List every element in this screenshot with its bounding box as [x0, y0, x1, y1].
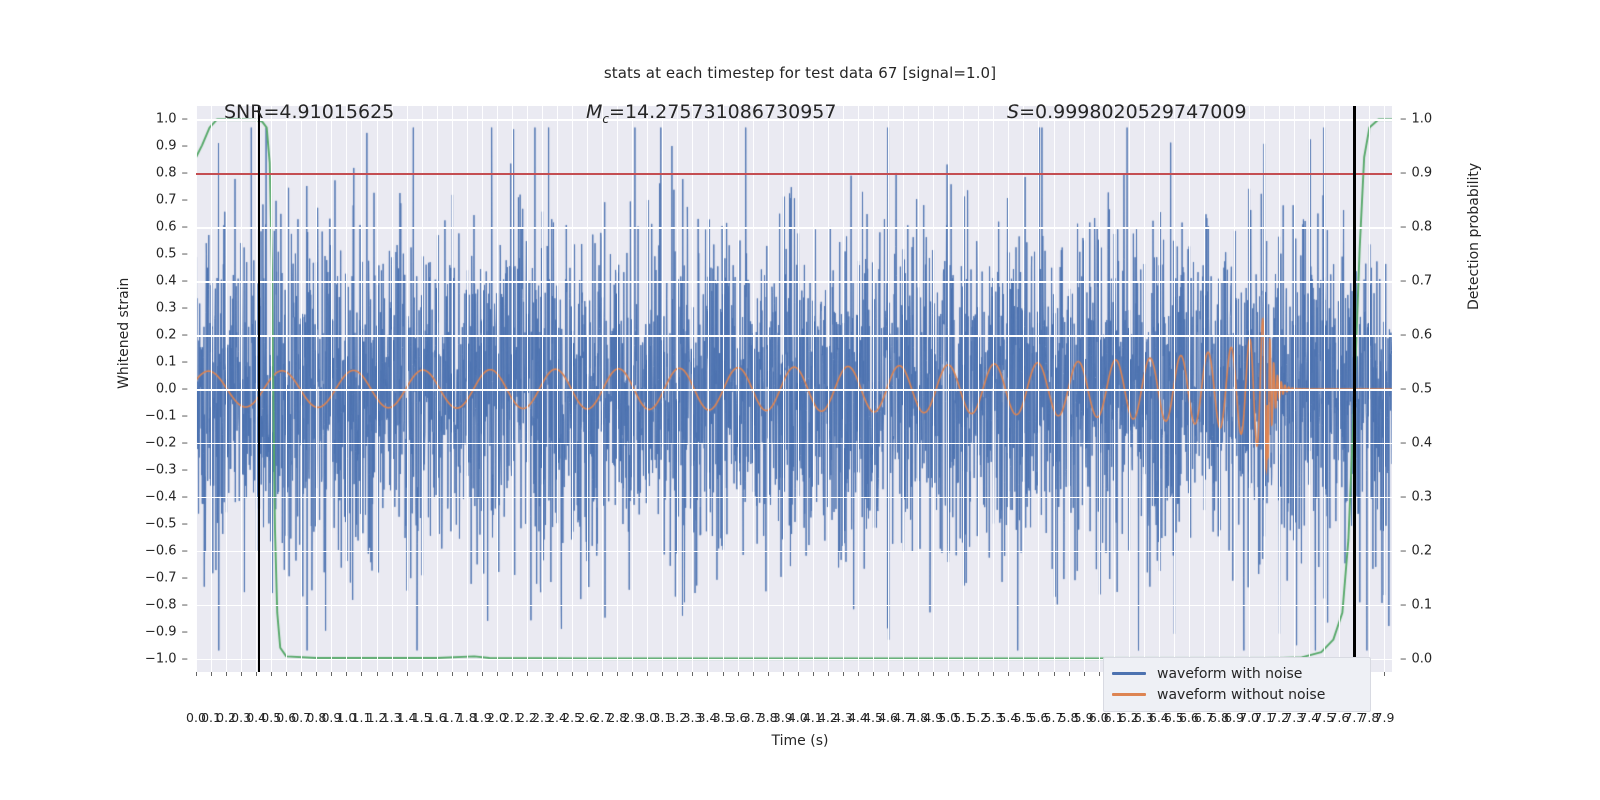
- gridline-horizontal: [196, 281, 1392, 283]
- x-axis-tick-mark: [497, 672, 498, 676]
- x-axis-tick-mark: [572, 672, 573, 676]
- x-axis-tick-mark: [813, 672, 814, 676]
- x-axis-tick-mark: [707, 672, 708, 676]
- x-axis-tick-mark: [256, 672, 257, 676]
- y-axis-right-tick: –0.4: [1400, 435, 1432, 450]
- y-right-tick-label: 0.3: [1412, 489, 1433, 504]
- x-axis-tick-mark: [407, 672, 408, 676]
- x-axis-tick-mark: [918, 672, 919, 676]
- legend-swatch-with-noise: [1112, 672, 1146, 675]
- plot-area[interactable]: [196, 106, 1392, 672]
- y-left-tick-label: 0.7: [156, 193, 177, 208]
- x-axis-tick-mark: [392, 672, 393, 676]
- y-axis-left-tick: 0.2–: [142, 328, 188, 343]
- x-axis-label: Time (s): [0, 733, 1600, 749]
- tick-dash-icon: –: [182, 382, 189, 397]
- y-right-tick-label: 0.7: [1412, 274, 1433, 289]
- y-axis-left-tick: −0.5–: [142, 516, 188, 531]
- x-axis-tick-mark: [331, 672, 332, 676]
- annotation-mc-label: M: [586, 101, 602, 123]
- y-right-tick-label: 1.0: [1412, 112, 1433, 127]
- y-left-tick-label: −0.4: [145, 489, 177, 504]
- tick-dash-icon: –: [1400, 274, 1407, 289]
- tick-dash-icon: –: [182, 328, 189, 343]
- y-axis-left-tick: −0.7–: [142, 570, 188, 585]
- x-axis-tick-mark: [196, 672, 197, 676]
- x-axis-tick-mark: [677, 672, 678, 676]
- y-right-tick-label: 0.4: [1412, 435, 1433, 450]
- gridline-horizontal: [196, 389, 1392, 391]
- x-axis-tick-mark: [482, 672, 483, 676]
- y-axis-left-tick: 0.6–: [142, 220, 188, 235]
- tick-dash-icon: –: [182, 408, 189, 423]
- x-axis-tick-mark: [1069, 672, 1070, 676]
- y-axis-left-tick: −1.0–: [142, 651, 188, 666]
- x-axis-tick-mark: [1384, 672, 1385, 676]
- tick-dash-icon: –: [182, 193, 189, 208]
- gridline-horizontal: [196, 551, 1392, 553]
- x-axis-tick-mark: [978, 672, 979, 676]
- tick-dash-icon: –: [1400, 489, 1407, 504]
- x-axis-tick-mark: [933, 672, 934, 676]
- y-left-tick-label: −0.9: [145, 624, 177, 639]
- y-axis-left-tick: −0.3–: [142, 462, 188, 477]
- x-axis-tick-mark: [1099, 672, 1100, 676]
- tick-dash-icon: –: [182, 355, 189, 370]
- tick-dash-icon: –: [182, 112, 189, 127]
- x-axis-tick-mark: [557, 672, 558, 676]
- annotation-snr-value: 4.91015625: [279, 101, 394, 123]
- y-axis-right-tick: –0.2: [1400, 543, 1432, 558]
- y-axis-left-tick: −0.1–: [142, 408, 188, 423]
- x-axis-tick-mark: [1008, 672, 1009, 676]
- x-axis-tick-mark: [647, 672, 648, 676]
- legend-item-waveform-without-noise[interactable]: waveform without noise: [1112, 684, 1362, 705]
- x-axis-tick-mark: [542, 672, 543, 676]
- annotation-s-eq: =: [1019, 101, 1035, 123]
- annotation-score: S=0.9998020529747009: [1007, 101, 1247, 123]
- y-left-tick-label: 0.0: [156, 382, 177, 397]
- y-right-tick-label: 0.0: [1412, 651, 1433, 666]
- event-marker-line: [1353, 106, 1355, 672]
- figure-canvas: stats at each timestep for test data 67 …: [0, 0, 1600, 800]
- x-axis-tick-mark: [527, 672, 528, 676]
- tick-dash-icon: –: [182, 516, 189, 531]
- legend-label-with-noise: waveform with noise: [1157, 666, 1302, 682]
- annotation-snr-label: SNR=: [224, 101, 279, 123]
- tick-dash-icon: –: [182, 570, 189, 585]
- y-left-tick-label: 0.2: [156, 328, 177, 343]
- y-axis-left-tick: −0.6–: [142, 543, 188, 558]
- legend-swatch-without-noise: [1112, 693, 1146, 696]
- x-axis-tick-mark: [587, 672, 588, 676]
- tick-dash-icon: –: [182, 651, 189, 666]
- y-axis-left-tick: 0.4–: [142, 274, 188, 289]
- y-axis-left-tick: 0.8–: [142, 166, 188, 181]
- tick-dash-icon: –: [182, 247, 189, 262]
- y-axis-right-tick: –0.8: [1400, 220, 1432, 235]
- y-axis-right-tick: –0.7: [1400, 274, 1432, 289]
- x-axis-tick-mark: [361, 672, 362, 676]
- y-axis-left-tick: −0.9–: [142, 624, 188, 639]
- y-left-tick-label: 0.9: [156, 139, 177, 154]
- y-left-tick-label: 0.1: [156, 355, 177, 370]
- x-axis-tick-mark: [723, 672, 724, 676]
- x-axis-tick-mark: [963, 672, 964, 676]
- annotation-chirp-mass: Mc=14.275731086730957: [586, 101, 836, 126]
- y-axis-right-tick: –0.6: [1400, 328, 1432, 343]
- x-axis-tick-mark: [467, 672, 468, 676]
- y-left-tick-label: 0.4: [156, 274, 177, 289]
- y-axis-left-tick: 1.0–: [142, 112, 188, 127]
- y-axis-left-tick: −0.4–: [142, 489, 188, 504]
- x-axis-tick-mark: [241, 672, 242, 676]
- x-axis-tick-mark: [1054, 672, 1055, 676]
- y-axis-right-label: Detection probability: [1466, 163, 1482, 310]
- legend-label-without-noise: waveform without noise: [1157, 687, 1325, 703]
- y-axis-right-tick: –0.1: [1400, 597, 1432, 612]
- y-axis-right-tick: –0.9: [1400, 166, 1432, 181]
- y-left-tick-label: 0.5: [156, 247, 177, 262]
- y-left-tick-label: −0.1: [145, 408, 177, 423]
- x-axis-tick-mark: [873, 672, 874, 676]
- tick-dash-icon: –: [182, 166, 189, 181]
- x-axis-tick-mark: [377, 672, 378, 676]
- y-axis-left-tick: 0.5–: [142, 247, 188, 262]
- x-axis-tick-mark: [452, 672, 453, 676]
- x-axis-tick-mark: [753, 672, 754, 676]
- x-axis-tick-label: 7.9: [1375, 710, 1395, 725]
- x-axis-tick-mark: [211, 672, 212, 676]
- tick-dash-icon: –: [182, 220, 189, 235]
- y-left-tick-label: −0.2: [145, 435, 177, 450]
- x-axis-tick-mark: [858, 672, 859, 676]
- y-right-tick-label: 0.8: [1412, 220, 1433, 235]
- x-axis-tick-mark: [316, 672, 317, 676]
- tick-dash-icon: –: [1400, 328, 1407, 343]
- y-left-tick-label: 1.0: [156, 112, 177, 127]
- tick-dash-icon: –: [1400, 166, 1407, 181]
- y-left-tick-label: −1.0: [145, 651, 177, 666]
- x-axis-tick-mark: [271, 672, 272, 676]
- tick-dash-icon: –: [182, 489, 189, 504]
- x-axis-tick-mark: [226, 672, 227, 676]
- tick-dash-icon: –: [182, 462, 189, 477]
- y-left-tick-label: −0.5: [145, 516, 177, 531]
- tick-dash-icon: –: [1400, 597, 1407, 612]
- tick-dash-icon: –: [1400, 382, 1407, 397]
- tick-dash-icon: –: [182, 624, 189, 639]
- tick-dash-icon: –: [182, 597, 189, 612]
- annotation-snr: SNR=4.91015625: [224, 101, 394, 123]
- tick-dash-icon: –: [182, 435, 189, 450]
- y-axis-right-tick: –0.0: [1400, 651, 1432, 666]
- tick-dash-icon: –: [1400, 112, 1407, 127]
- x-axis-tick-mark: [843, 672, 844, 676]
- y-left-tick-label: −0.7: [145, 570, 177, 585]
- threshold-line: [196, 173, 1392, 174]
- y-axis-right-tick: –0.5: [1400, 382, 1432, 397]
- chart-title: stats at each timestep for test data 67 …: [0, 64, 1600, 82]
- x-axis-tick-mark: [662, 672, 663, 676]
- annotation-s-label: S: [1007, 101, 1019, 123]
- gridline-horizontal: [196, 605, 1392, 607]
- y-axis-left-tick: 0.7–: [142, 193, 188, 208]
- x-axis-tick-mark: [888, 672, 889, 676]
- y-left-tick-label: −0.8: [145, 597, 177, 612]
- y-axis-left-tick: −0.2–: [142, 435, 188, 450]
- y-right-tick-label: 0.2: [1412, 543, 1433, 558]
- x-axis-tick-mark: [738, 672, 739, 676]
- gridline-horizontal: [196, 227, 1392, 229]
- x-axis-tick-mark: [632, 672, 633, 676]
- tick-dash-icon: –: [1400, 651, 1407, 666]
- y-axis-left-tick: 0.1–: [142, 355, 188, 370]
- y-axis-right-tick: –1.0: [1400, 112, 1432, 127]
- x-axis-tick-mark: [1084, 672, 1085, 676]
- y-axis-left-tick: 0.0–: [142, 382, 188, 397]
- event-marker-line: [258, 106, 260, 672]
- y-right-tick-label: 0.1: [1412, 597, 1433, 612]
- x-axis-tick-mark: [768, 672, 769, 676]
- annotation-s-value: 0.9998020529747009: [1035, 101, 1247, 123]
- x-axis-tick-mark: [1023, 672, 1024, 676]
- y-axis-left-tick: 0.9–: [142, 139, 188, 154]
- tick-dash-icon: –: [182, 543, 189, 558]
- gridline-horizontal: [196, 443, 1392, 445]
- y-left-tick-label: 0.8: [156, 166, 177, 181]
- x-axis-tick-mark: [798, 672, 799, 676]
- x-axis-tick-mark: [993, 672, 994, 676]
- y-axis-left-label: Whitened strain: [116, 278, 132, 389]
- x-axis-tick-mark: [422, 672, 423, 676]
- y-axis-right-tick: –0.3: [1400, 489, 1432, 504]
- y-right-tick-label: 0.6: [1412, 328, 1433, 343]
- x-axis-tick-mark: [692, 672, 693, 676]
- y-left-tick-label: 0.6: [156, 220, 177, 235]
- y-left-tick-label: −0.6: [145, 543, 177, 558]
- legend-item-waveform-with-noise[interactable]: waveform with noise: [1112, 663, 1362, 684]
- x-axis-tick-mark: [286, 672, 287, 676]
- tick-dash-icon: –: [1400, 220, 1407, 235]
- tick-dash-icon: –: [182, 301, 189, 316]
- tick-dash-icon: –: [182, 139, 189, 154]
- y-axis-left-tick: 0.3–: [142, 301, 188, 316]
- gridline-horizontal: [196, 335, 1392, 337]
- x-axis-tick-mark: [948, 672, 949, 676]
- legend[interactable]: waveform with noise waveform without noi…: [1103, 657, 1371, 712]
- x-axis-tick-mark: [617, 672, 618, 676]
- y-right-tick-label: 0.9: [1412, 166, 1433, 181]
- annotation-mc-eq: =: [609, 101, 625, 123]
- x-axis-tick-mark: [903, 672, 904, 676]
- tick-dash-icon: –: [1400, 543, 1407, 558]
- gridline-horizontal: [196, 497, 1392, 499]
- tick-dash-icon: –: [1400, 435, 1407, 450]
- x-axis-tick-mark: [346, 672, 347, 676]
- x-axis-tick-mark: [512, 672, 513, 676]
- x-axis-tick-mark: [437, 672, 438, 676]
- x-axis-tick-mark: [301, 672, 302, 676]
- x-axis-tick-mark: [1038, 672, 1039, 676]
- x-axis-tick-mark: [828, 672, 829, 676]
- y-axis-left-tick: −0.8–: [142, 597, 188, 612]
- tick-dash-icon: –: [182, 274, 189, 289]
- y-right-tick-label: 0.5: [1412, 382, 1433, 397]
- y-left-tick-label: −0.3: [145, 462, 177, 477]
- x-axis-tick-mark: [783, 672, 784, 676]
- annotation-mc-value: 14.275731086730957: [625, 101, 837, 123]
- x-axis-tick-mark: [602, 672, 603, 676]
- y-left-tick-label: 0.3: [156, 301, 177, 316]
